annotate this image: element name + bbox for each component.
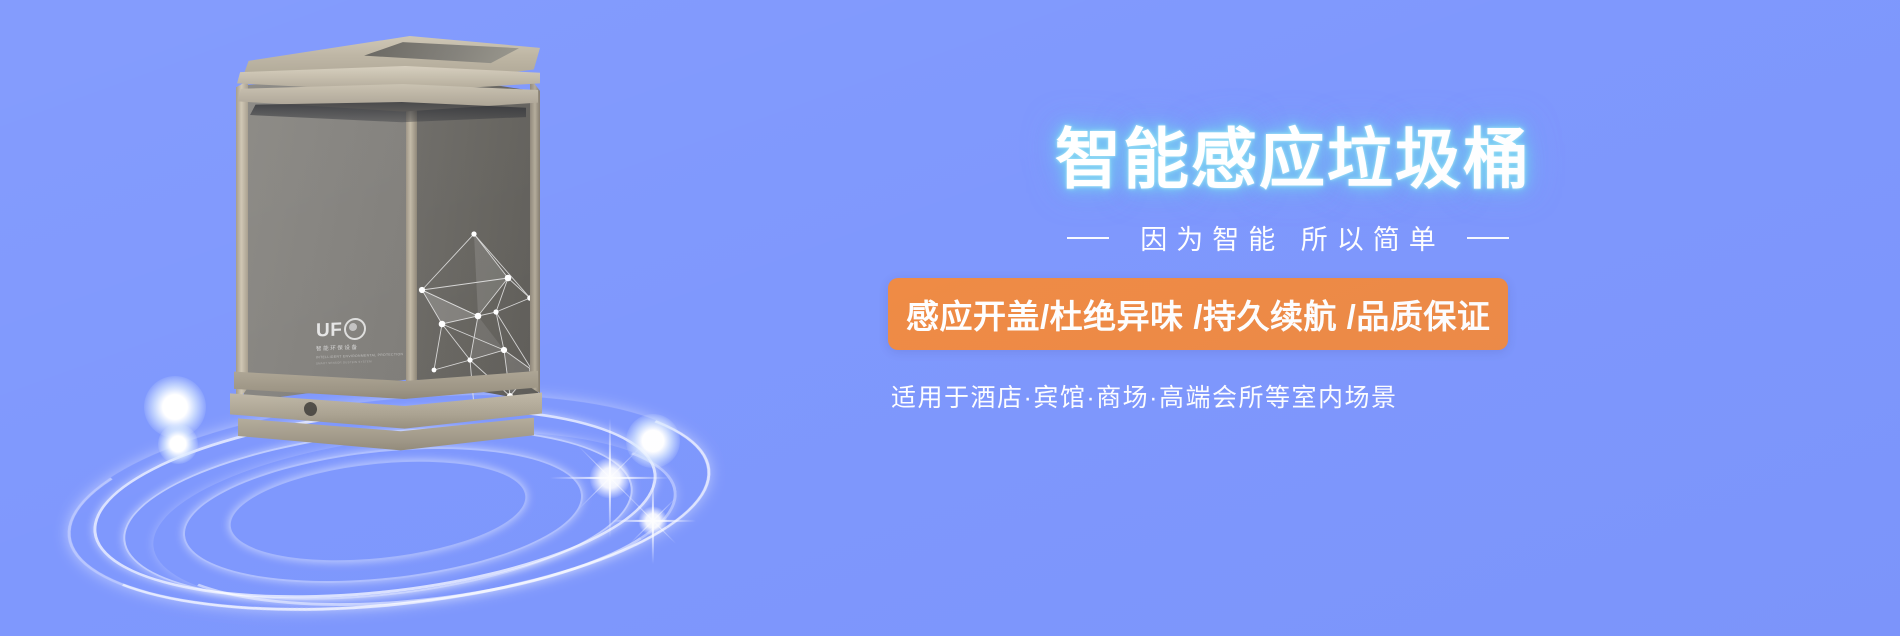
brand-name-cn: 智能环保设备 xyxy=(316,342,392,353)
feature-badge: 感应开盖/杜绝异味 /持久续航 /品质保证 xyxy=(888,278,1508,350)
usage-scenarios-text: 适用于酒店·宾馆·商场·高端会所等室内场景 xyxy=(891,378,1397,414)
dash-left-icon xyxy=(1067,237,1109,239)
subline: 因为智能 所以简单 xyxy=(888,218,1688,257)
dash-right-icon xyxy=(1467,237,1509,239)
bin-edge-left xyxy=(236,74,248,404)
brand-ring-icon xyxy=(344,318,366,341)
promo-banner: UF 智能环保设备 INTELLIGENT ENVIRONMENTAL PROT… xyxy=(0,0,1900,636)
brand-mark-text: UF xyxy=(316,320,342,340)
glow-dot-icon xyxy=(158,424,198,464)
smart-trash-bin-image: UF 智能环保设备 INTELLIGENT ENVIRONMENTAL PROT… xyxy=(230,30,540,450)
headline: 智能感应垃圾桶 xyxy=(1055,126,1531,192)
ufo-brand-logo: UF 智能环保设备 INTELLIGENT ENVIRONMENTAL PROT… xyxy=(316,317,392,365)
product-scene: UF 智能环保设备 INTELLIGENT ENVIRONMENTAL PROT… xyxy=(60,20,880,620)
brand-mark: UF xyxy=(316,317,392,342)
feature-badge-text: 感应开盖/杜绝异味 /持久续航 /品质保证 xyxy=(906,290,1490,338)
bin-edge-right xyxy=(530,78,540,400)
subline-text: 因为智能 所以简单 xyxy=(1131,218,1445,257)
copy-block: 智能感应垃圾桶 因为智能 所以简单 感应开盖/杜绝异味 /持久续航 /品质保证 … xyxy=(888,0,1788,636)
glow-dot-icon xyxy=(626,414,680,468)
